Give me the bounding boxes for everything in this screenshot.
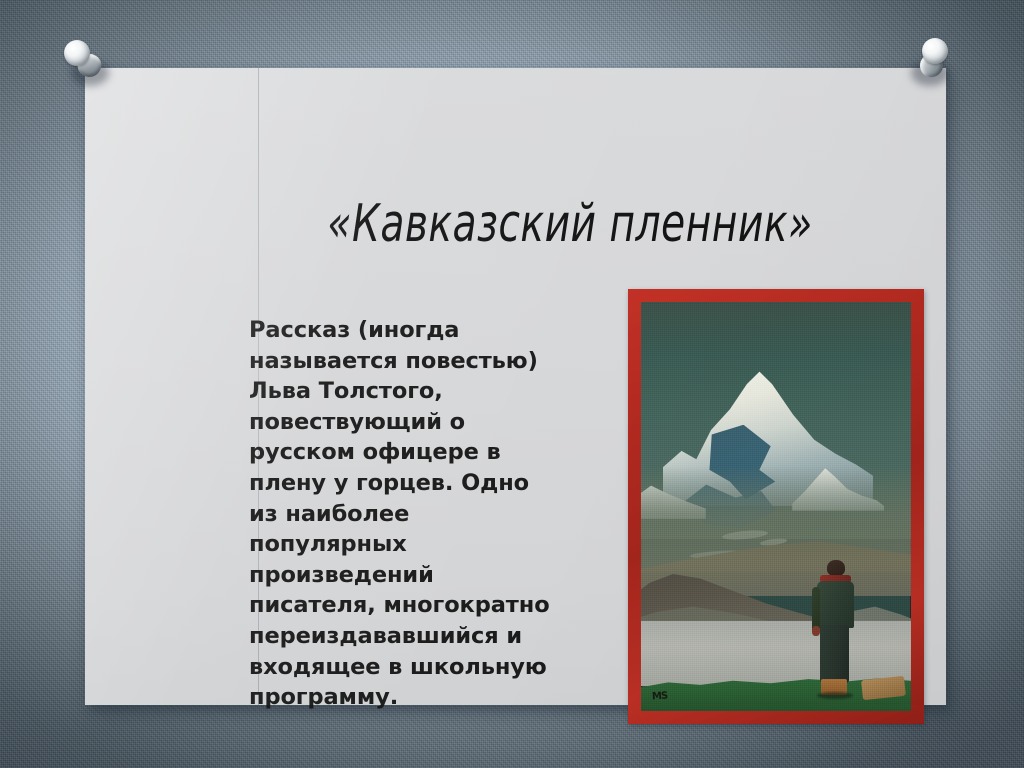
lake-mist-region [641,621,911,686]
figure-head [827,560,845,577]
slide-title: «Кавказский пленник» [268,194,873,254]
artist-signature: MS [652,691,668,703]
pushpin-head [64,40,90,66]
slide-body-text: Рассказ (иногда называется повестью) Льв… [249,315,559,713]
standing-figure [808,560,862,699]
illustration-image: MS [641,302,911,711]
figure-legs [820,625,849,683]
pushpin-right-icon[interactable] [902,38,956,92]
watercolor-artwork: MS [641,302,911,711]
figure-torso [817,581,854,628]
illustration-frame[interactable]: MS [628,289,924,724]
pushpin-left-icon[interactable] [62,38,116,92]
figure-arm [812,587,821,631]
figure-ground-shadow [817,692,853,699]
presentation-slide[interactable]: «Кавказский пленник» Рассказ (иногда наз… [85,68,946,705]
figure-hand [812,626,820,636]
pushpin-head [922,38,948,64]
